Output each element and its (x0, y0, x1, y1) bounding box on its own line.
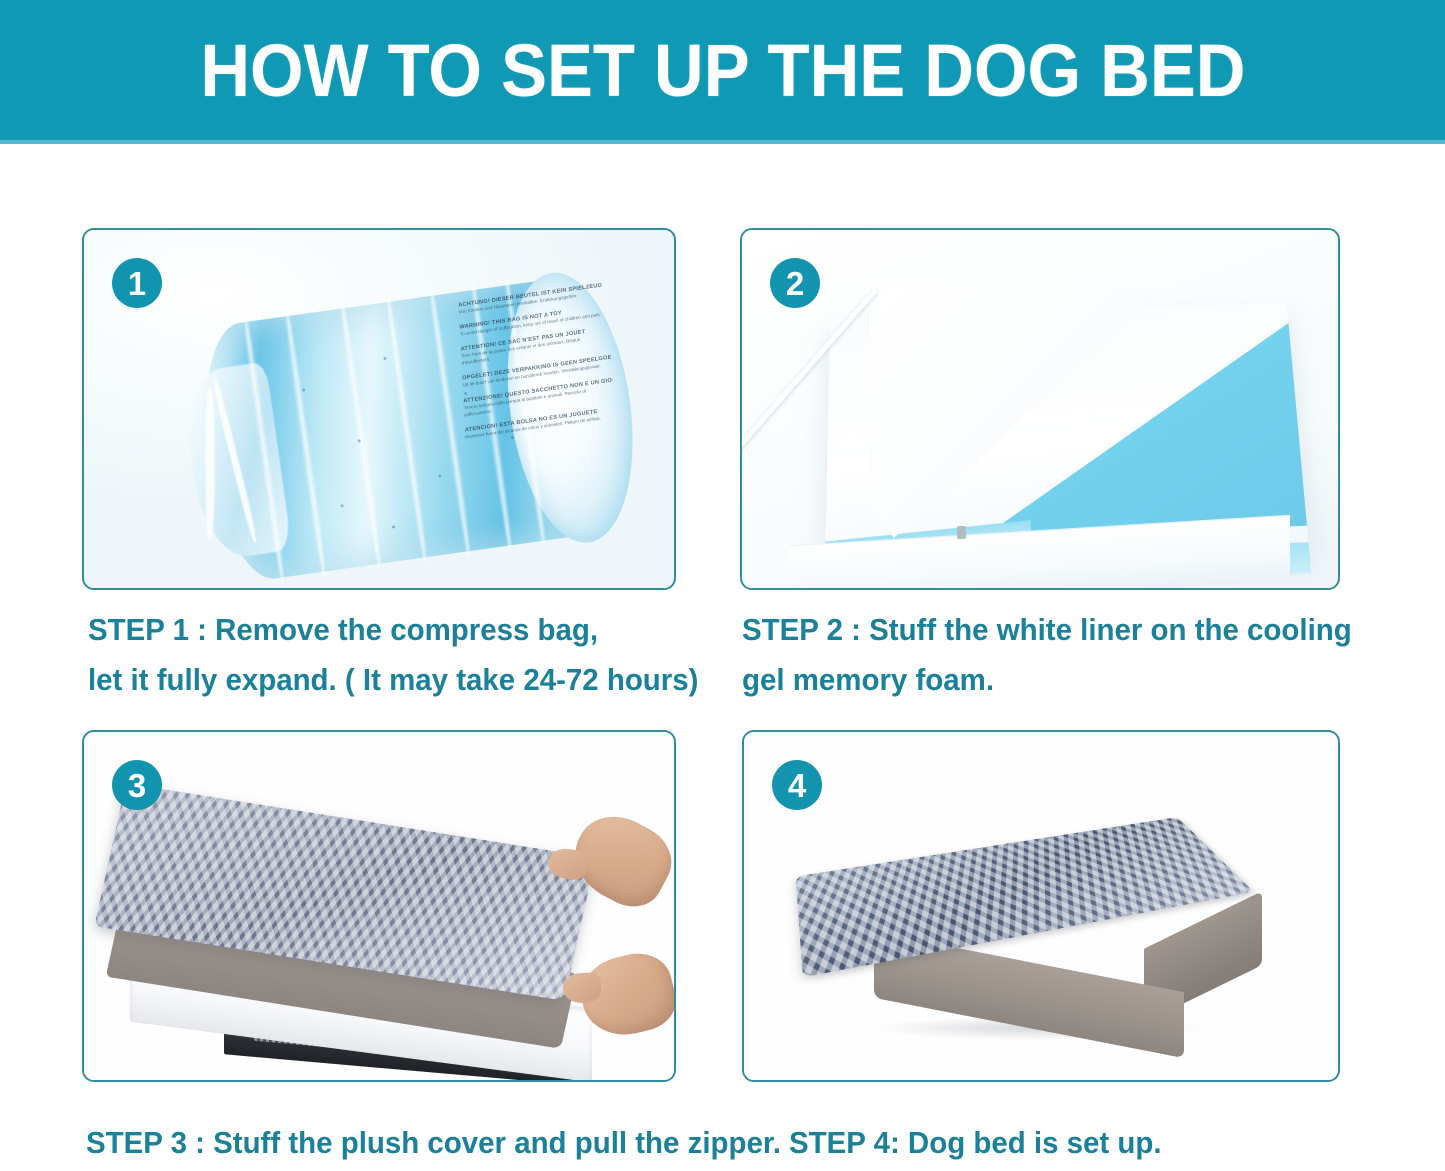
step-2-caption-line-1: STEP 2 : Stuff the white liner on the co… (742, 612, 1352, 648)
step-3-badge: 3 (112, 760, 162, 810)
step-3-caption: STEP 3 : Stuff the plush cover and pull … (86, 1125, 781, 1161)
bag-warning-label: ACHTUNG! DIESER BEUTEL IST KEIN SPIELZEU… (458, 282, 619, 533)
page-title: HOW TO SET UP THE DOG BED (200, 28, 1245, 113)
header-banner: HOW TO SET UP THE DOG BED (0, 0, 1445, 144)
finished-dog-bed-illustration (806, 804, 1276, 1034)
step-4-caption: STEP 4: Dog bed is set up. (789, 1125, 1162, 1161)
step-2-image-panel: 2 (740, 228, 1340, 590)
step-4-image-panel: 4 (742, 730, 1340, 1082)
step-1-caption-line-1: STEP 1 : Remove the compress bag, (88, 612, 598, 648)
step-2-caption-line-2: gel memory foam. (742, 662, 994, 698)
step-3-image-panel: 3 (82, 730, 676, 1082)
dog-bed-assembly-illustration (104, 810, 664, 1060)
step-1-badge: 1 (112, 258, 162, 308)
zipper-pull-icon (957, 526, 966, 539)
step-4-badge: 4 (772, 760, 822, 810)
step-2-badge: 2 (770, 258, 820, 308)
step-1-image-panel: ACHTUNG! DIESER BEUTEL IST KEIN SPIELZEU… (82, 228, 676, 590)
step-1-caption-line-2: let it fully expand. ( It may take 24-72… (88, 662, 698, 698)
